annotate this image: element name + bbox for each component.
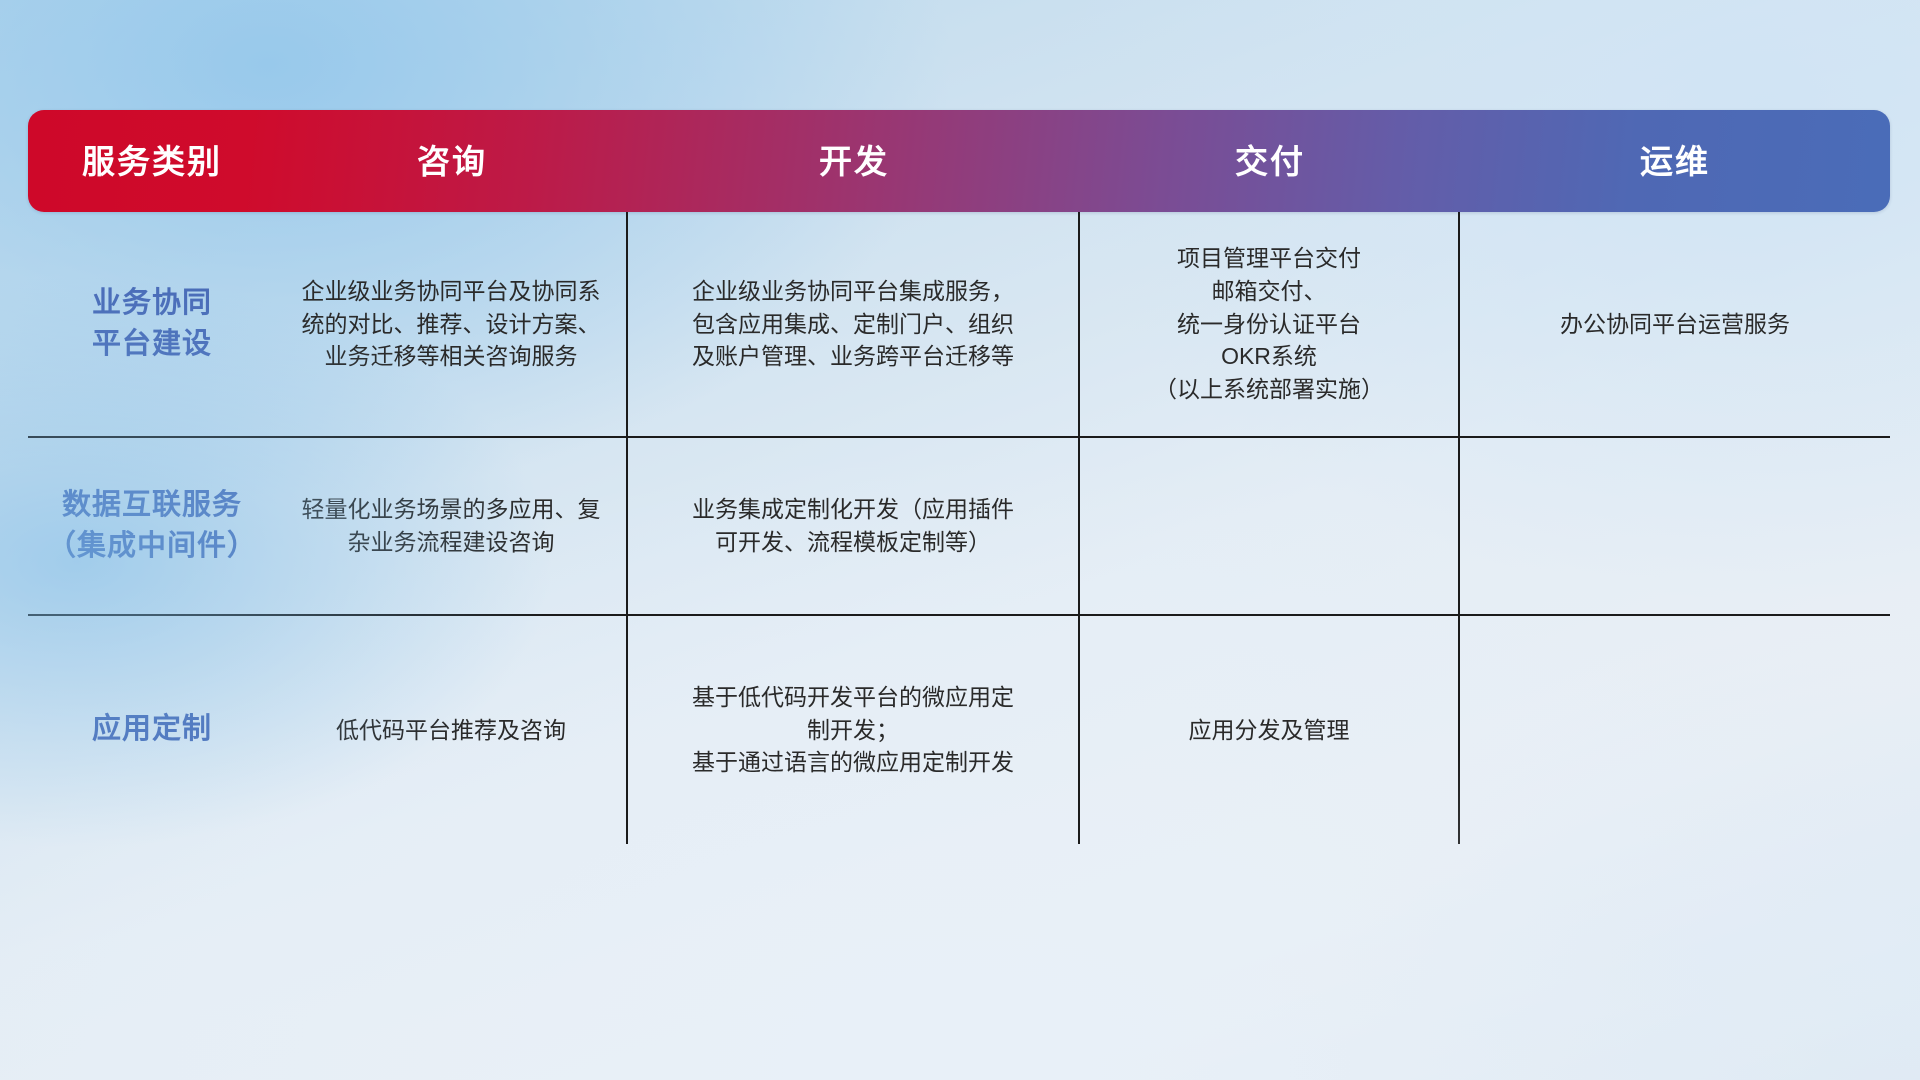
row-label-business-collaboration: 业务协同 平台建设	[28, 212, 276, 436]
row-label-app-customization: 应用定制	[28, 616, 276, 844]
cell-delivery-row-1: 项目管理平台交付 邮箱交付、 统一身份认证平台 OKR系统 （以上系统部署实施）	[1080, 212, 1460, 436]
cell-delivery-row-2	[1080, 438, 1460, 614]
table-header-cell-delivery: 交付	[1080, 145, 1460, 178]
table-body: 业务协同 平台建设 企业级业务协同平台及协同系 统的对比、推荐、设计方案、 业务…	[28, 212, 1890, 844]
cell-consulting-row-1: 企业级业务协同平台及协同系 统的对比、推荐、设计方案、 业务迁移等相关咨询服务	[276, 212, 628, 436]
cell-operations-row-1: 办公协同平台运营服务	[1460, 212, 1890, 436]
table-header-cell-category: 服务类别	[28, 145, 276, 178]
cell-development-row-1: 企业级业务协同平台集成服务， 包含应用集成、定制门户、组织 及账户管理、业务跨平…	[628, 212, 1080, 436]
table-header-cell-consulting: 咨询	[276, 145, 628, 178]
cell-operations-row-2	[1460, 438, 1890, 614]
row-label-data-integration: 数据互联服务 （集成中间件）	[28, 438, 276, 614]
cell-development-row-2: 业务集成定制化开发（应用插件 可开发、流程模板定制等）	[628, 438, 1080, 614]
table-header-row: 服务类别 咨询 开发 交付 运维	[28, 110, 1890, 212]
table-row: 业务协同 平台建设 企业级业务协同平台及协同系 统的对比、推荐、设计方案、 业务…	[28, 212, 1890, 436]
cell-consulting-row-3: 低代码平台推荐及咨询	[276, 616, 628, 844]
table-header-cell-development: 开发	[628, 145, 1080, 178]
table-header-cell-operations: 运维	[1460, 145, 1890, 178]
table-row: 数据互联服务 （集成中间件） 轻量化业务场景的多应用、复 杂业务流程建设咨询 业…	[28, 436, 1890, 614]
slide-canvas: 服务类别 咨询 开发 交付 运维 业务协同 平台建设 企业级业务协同平台及协同系…	[0, 0, 1920, 1080]
cell-delivery-row-3: 应用分发及管理	[1080, 616, 1460, 844]
service-matrix-table: 服务类别 咨询 开发 交付 运维 业务协同 平台建设 企业级业务协同平台及协同系…	[28, 110, 1890, 782]
cell-operations-row-3	[1460, 616, 1890, 844]
cell-consulting-row-2: 轻量化业务场景的多应用、复 杂业务流程建设咨询	[276, 438, 628, 614]
cell-development-row-3: 基于低代码开发平台的微应用定 制开发； 基于通过语言的微应用定制开发	[628, 616, 1080, 844]
table-row: 应用定制 低代码平台推荐及咨询 基于低代码开发平台的微应用定 制开发； 基于通过…	[28, 614, 1890, 844]
